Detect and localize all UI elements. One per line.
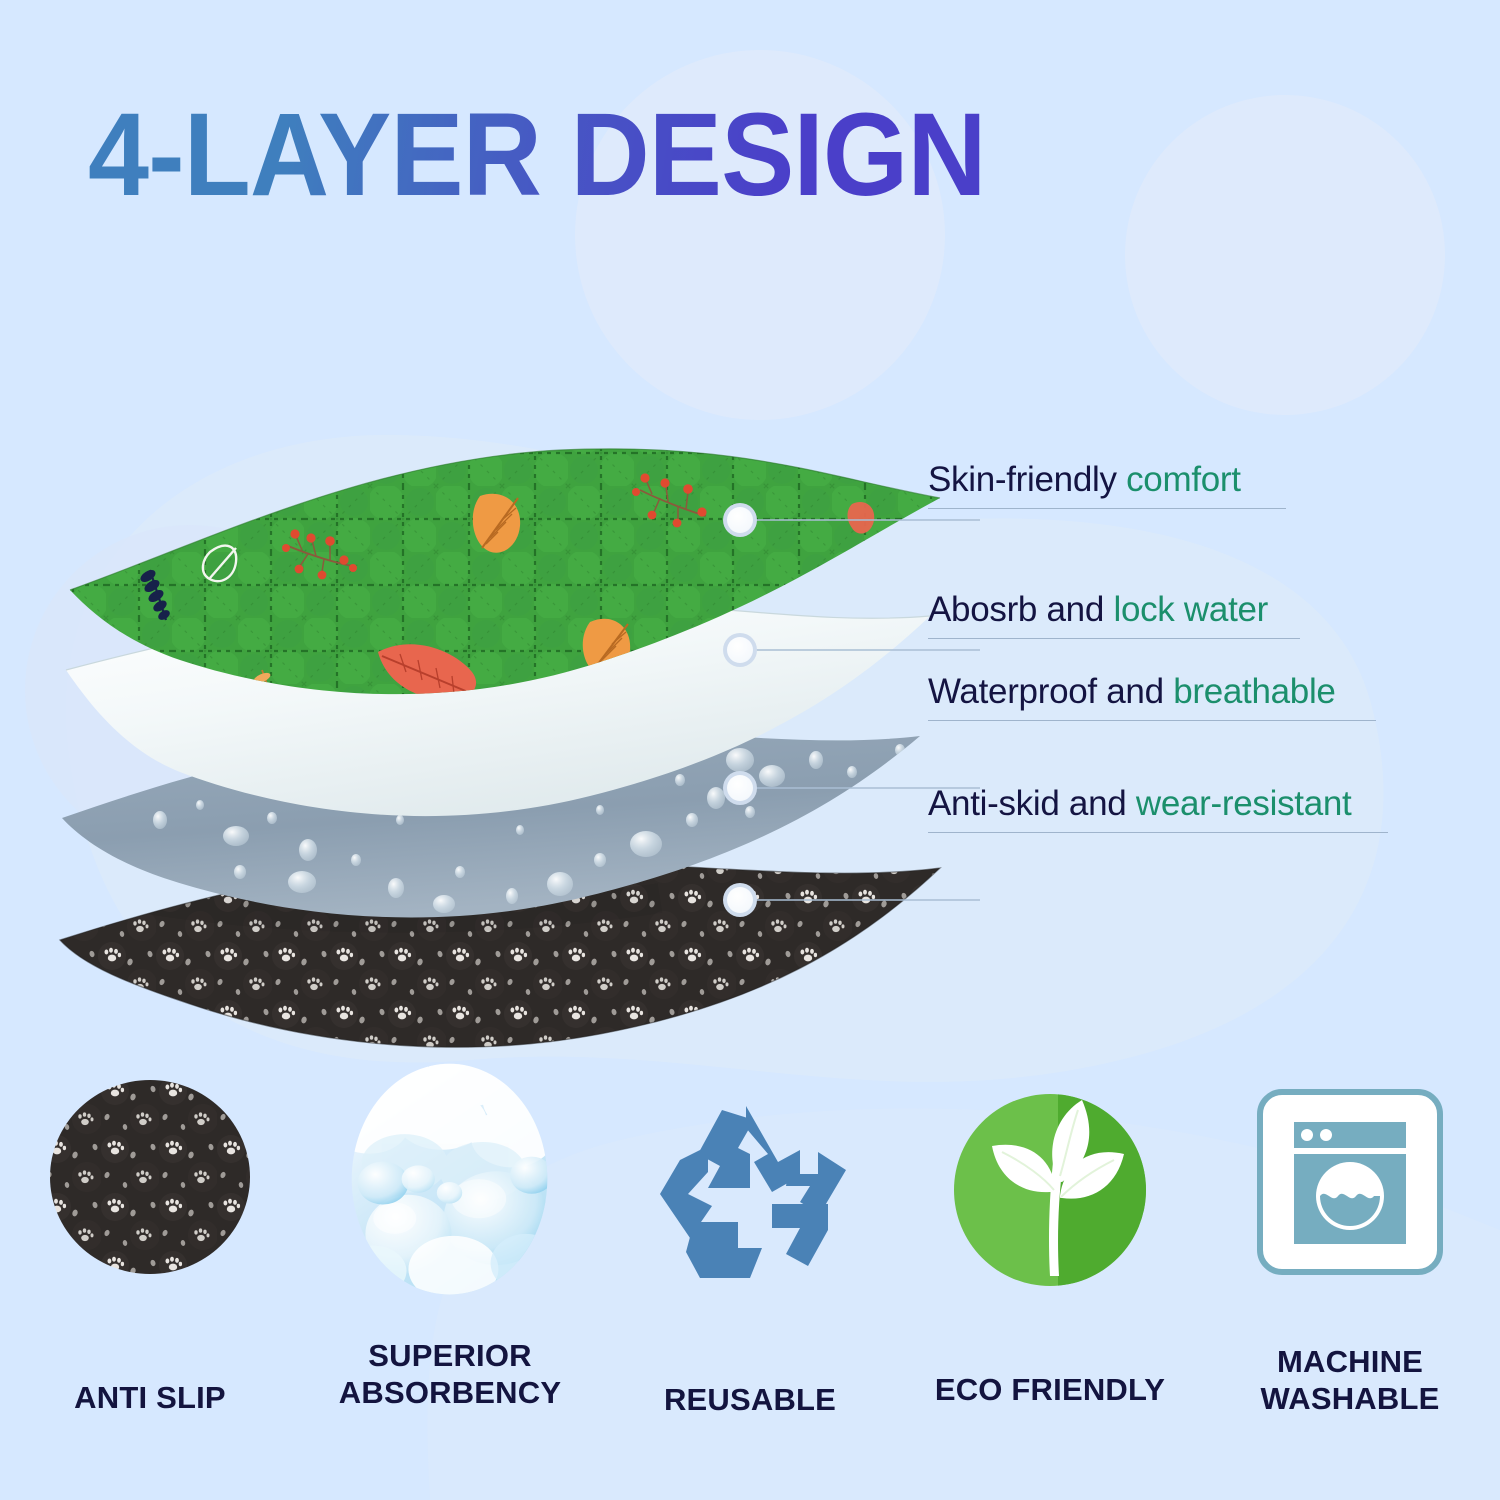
callout-rule-3 xyxy=(928,720,1376,721)
feature-row: ANTI SLIP xyxy=(0,1070,1500,1470)
callout-accent-4: wear-resistant xyxy=(1136,784,1352,823)
callout-lead-2: Abosrb and xyxy=(928,590,1104,629)
callout-text-4: Anti-skid and wear-resistant xyxy=(928,786,1388,823)
callout-dot-1[interactable] xyxy=(723,503,757,537)
feature-label-reusable: REUSABLE xyxy=(664,1382,836,1419)
callout-skin-friendly: Skin-friendly comfort xyxy=(928,462,1286,499)
callout-rule-2 xyxy=(928,638,1300,639)
callout-lead-1: Skin-friendly xyxy=(928,460,1117,499)
callout-absorb-lock: Abosrb and lock water xyxy=(928,592,1300,629)
feature-label-eco-friendly: ECO FRIENDLY xyxy=(935,1372,1165,1409)
callout-accent-2: lock water xyxy=(1113,590,1268,629)
plant-leaf-icon xyxy=(940,1080,1160,1300)
callout-dot-4[interactable] xyxy=(723,883,757,917)
decor-circle-top-right xyxy=(1125,95,1445,415)
callout-rule-4 xyxy=(928,832,1388,833)
callout-lead-4: Anti-skid and xyxy=(928,784,1126,823)
water-bubbles-icon xyxy=(340,1074,560,1294)
page-title: 4-LAYER DESIGN xyxy=(88,96,986,214)
feature-superior-absorbency[interactable]: SUPERIOR ABSORBENCY xyxy=(300,1070,600,1470)
callout-text-1: Skin-friendly comfort xyxy=(928,462,1286,499)
callout-accent-1: comfort xyxy=(1126,460,1241,499)
feature-label-machine-washable: MACHINE WASHABLE xyxy=(1261,1344,1440,1417)
feature-machine-washable[interactable]: MACHINE WASHABLE xyxy=(1200,1070,1500,1470)
callout-accent-3: breathable xyxy=(1173,672,1335,711)
feature-eco-friendly[interactable]: ECO FRIENDLY xyxy=(900,1070,1200,1470)
anti-slip-fabric-icon xyxy=(40,1074,260,1294)
layer-stack-diagram xyxy=(40,420,980,1060)
feature-label-anti-slip: ANTI SLIP xyxy=(74,1380,226,1417)
callout-lead-3: Waterproof and xyxy=(928,672,1164,711)
feature-reusable[interactable]: REUSABLE xyxy=(600,1070,900,1470)
callout-text-2: Abosrb and lock water xyxy=(928,592,1300,629)
callout-dot-3[interactable] xyxy=(723,771,757,805)
feature-anti-slip[interactable]: ANTI SLIP xyxy=(0,1070,300,1470)
washing-machine-icon xyxy=(1240,1074,1460,1294)
callout-waterproof: Waterproof and breathable xyxy=(928,674,1376,711)
callout-rule-1 xyxy=(928,508,1286,509)
feature-label-superior-absorbency: SUPERIOR ABSORBENCY xyxy=(339,1338,561,1411)
recycle-icon xyxy=(640,1084,860,1304)
callout-dot-2[interactable] xyxy=(723,633,757,667)
callout-anti-skid: Anti-skid and wear-resistant xyxy=(928,786,1388,823)
callout-text-3: Waterproof and breathable xyxy=(928,674,1376,711)
